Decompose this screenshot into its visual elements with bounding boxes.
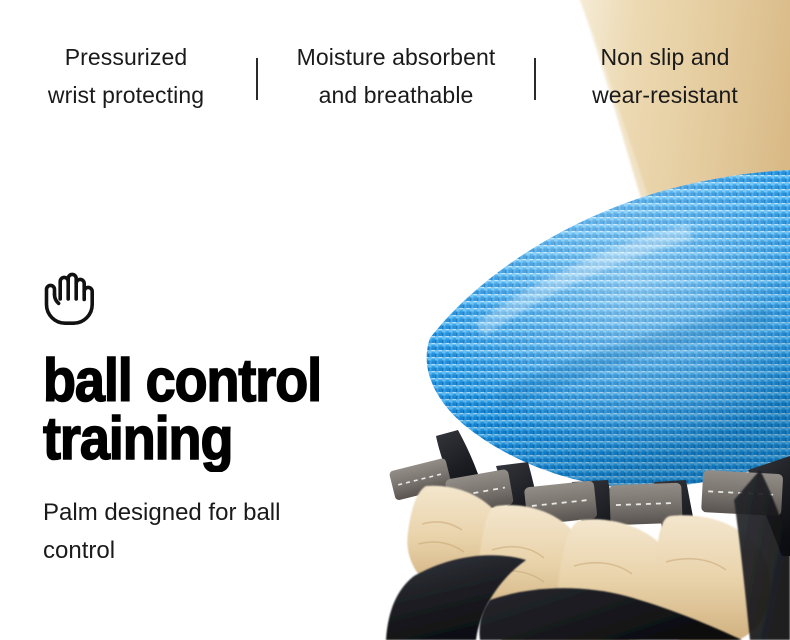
- subcopy-line-2: control: [43, 532, 373, 570]
- feature-divider-2: [530, 38, 540, 100]
- promo-subcopy: Palm designed for ball control: [43, 494, 373, 570]
- open-hand-icon: [43, 268, 97, 326]
- feature-item-2: Moisture absorbent and breathable: [262, 38, 530, 114]
- feature-divider-1: [252, 38, 262, 100]
- product-feature-banner: Pressurized wrist protecting Moisture ab…: [0, 0, 790, 640]
- feature-item-1: Pressurized wrist protecting: [0, 38, 252, 114]
- headline-line-1: ball control: [43, 352, 421, 410]
- feature-item-2-line1: Moisture absorbent: [262, 38, 530, 76]
- feature-item-3: Non slip and wear-resistant: [540, 38, 790, 114]
- feature-item-1-line2: wrist protecting: [0, 76, 252, 114]
- page-title: ball control training: [43, 352, 421, 468]
- feature-item-3-line1: Non slip and: [540, 38, 790, 76]
- feature-item-1-line1: Pressurized: [0, 38, 252, 76]
- divider-line: [534, 58, 536, 100]
- headline-line-2: training: [43, 410, 421, 468]
- feature-item-2-line2: and breathable: [262, 76, 530, 114]
- promo-copy-block: ball control training Palm designed for …: [43, 268, 463, 570]
- feature-item-3-line2: wear-resistant: [540, 76, 790, 114]
- feature-strip: Pressurized wrist protecting Moisture ab…: [0, 38, 790, 118]
- subcopy-line-1: Palm designed for ball: [43, 494, 373, 532]
- divider-line: [256, 58, 258, 100]
